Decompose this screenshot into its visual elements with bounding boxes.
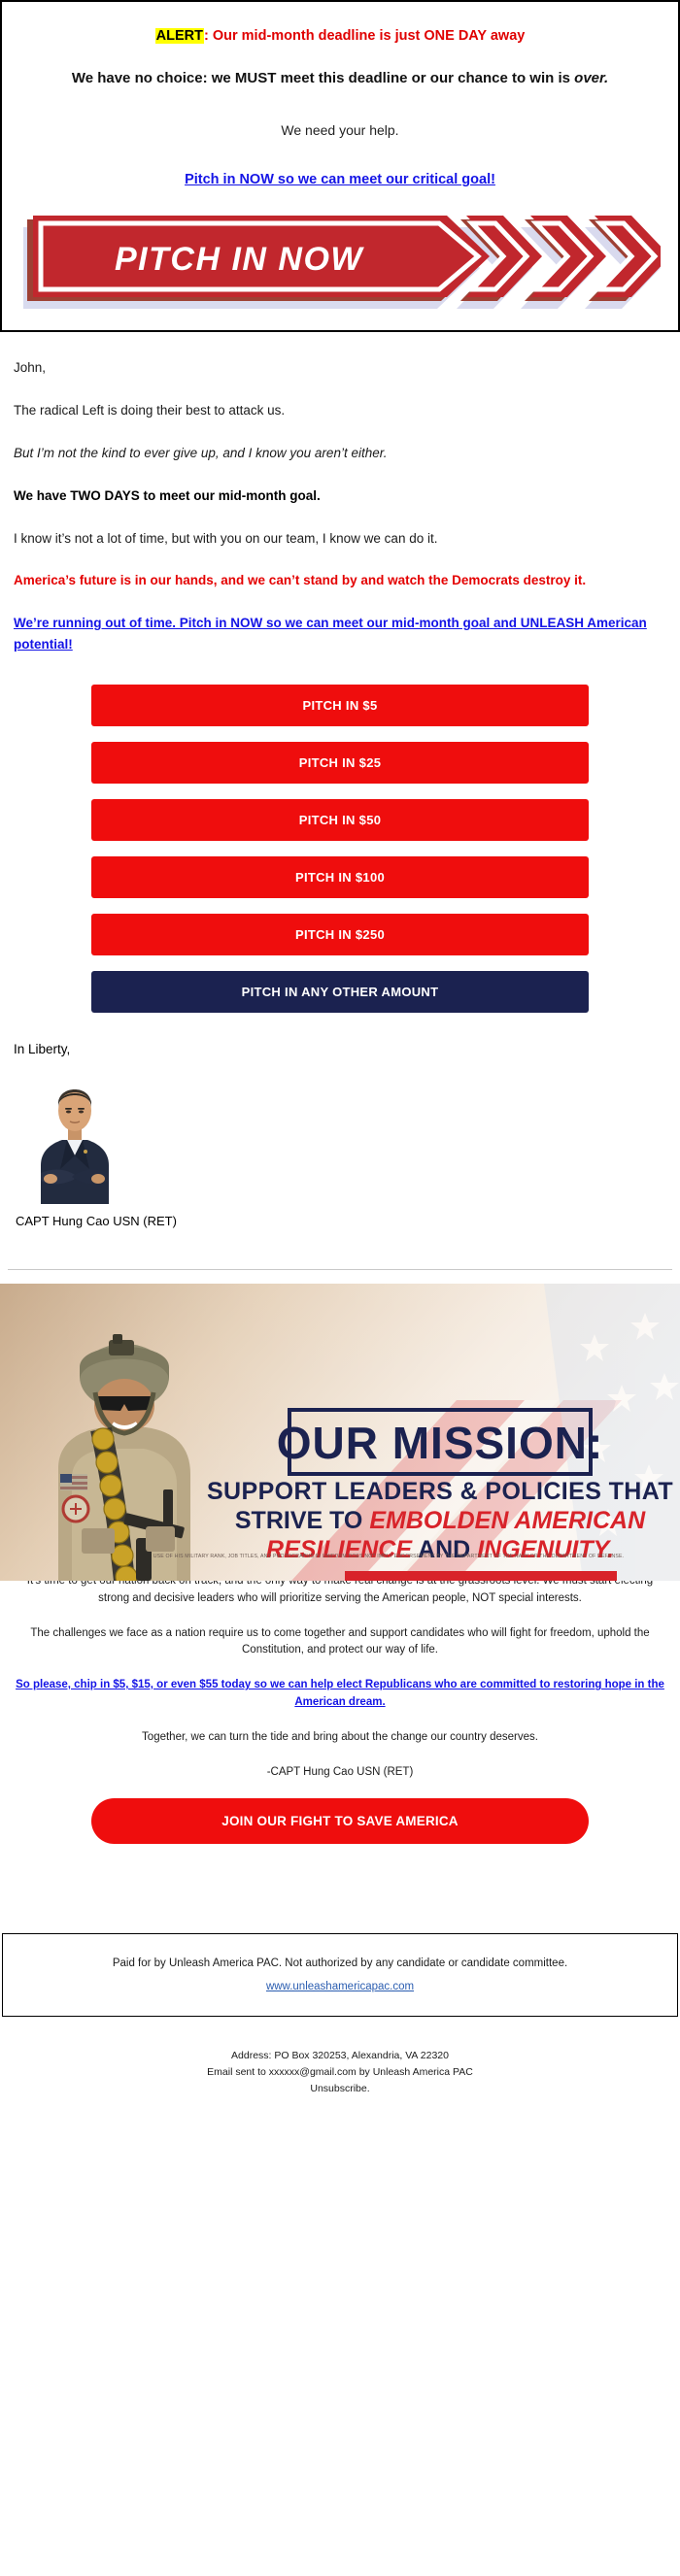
- donate-button-25[interactable]: PITCH IN $25: [91, 742, 589, 784]
- military-disclaimer-wrap: USE OF HIS MILITARY RANK, JOB TITLES, AN…: [0, 1554, 680, 1559]
- join-our-fight-button[interactable]: JOIN OUR FIGHT TO SAVE AMERICA: [91, 1798, 589, 1844]
- mission-line-2: STRIVE TO EMBOLDEN AMERICAN: [235, 1507, 646, 1534]
- svg-text:OUR MISSION:: OUR MISSION:: [277, 1418, 604, 1468]
- footer-address-block: Address: PO Box 320253, Alexandria, VA 2…: [0, 2017, 680, 2115]
- donate-button-other[interactable]: PITCH IN ANY OTHER AMOUNT: [91, 971, 589, 1013]
- letter-paragraph-6-wrap: We’re running out of time. Pitch in NOW …: [14, 613, 666, 655]
- donate-button-5[interactable]: PITCH IN $5: [91, 685, 589, 726]
- footer-unsubscribe[interactable]: Unsubscribe.: [0, 2081, 680, 2097]
- closing-copy: It's time to get our nation back on trac…: [0, 1559, 680, 1845]
- donate-button-100[interactable]: PITCH IN $100: [91, 856, 589, 898]
- hero-subheadline: We have no choice: we MUST meet this dea…: [52, 67, 628, 89]
- letter-body: John, The radical Left is doing their be…: [0, 332, 680, 655]
- closing-signature: -CAPT Hung Cao USN (RET): [16, 1764, 664, 1782]
- mission-line-1: SUPPORT LEADERS & POLICIES THAT: [207, 1478, 673, 1505]
- signature-greeting: In Liberty,: [14, 1042, 666, 1056]
- closing-paragraph-4: Together, we can turn the tide and bring…: [16, 1729, 664, 1747]
- svg-text:SAVE AMERICA: SAVE AMERICA: [352, 1578, 561, 1581]
- footer-address: Address: PO Box 320253, Alexandria, VA 2…: [0, 2048, 680, 2064]
- section-divider: [8, 1269, 672, 1270]
- signature-name: CAPT Hung Cao USN (RET): [16, 1214, 666, 1228]
- closing-paragraph-2: The challenges we face as a nation requi…: [16, 1625, 664, 1660]
- alert-badge: ALERT: [155, 28, 204, 44]
- closing-donate-link[interactable]: So please, chip in $5, $15, or even $55 …: [16, 1679, 664, 1708]
- svg-text:❮❮: ❮❮: [561, 1579, 604, 1581]
- banner-label: PITCH IN NOW: [115, 241, 364, 278]
- pac-website-link-wrap: www.unleashamericapac.com: [13, 1977, 667, 1994]
- letter-paragraph-2: But I’m not the kind to ever give up, an…: [14, 443, 666, 464]
- pitch-in-now-banner[interactable]: PITCH IN NOW: [19, 214, 661, 330]
- alert-headline-text: : Our mid-month deadline is just ONE DAY…: [204, 28, 525, 44]
- hero-need-help: We need your help.: [19, 122, 661, 138]
- letter-inline-donate-link[interactable]: We’re running out of time. Pitch in NOW …: [14, 616, 647, 652]
- our-mission-image[interactable]: OUR MISSION: SUPPORT LEADERS & POLICIES …: [0, 1284, 680, 1581]
- alert-headline: ALERT: Our mid-month deadline is just ON…: [19, 27, 661, 46]
- portrait-photo: [21, 1072, 128, 1204]
- letter-salutation: John,: [14, 357, 666, 379]
- letter-paragraph-3: We have TWO DAYS to meet our mid-month g…: [14, 485, 666, 507]
- footer-email-line: Email sent to xxxxxx@gmail.com by Unleas…: [0, 2064, 680, 2081]
- hero-subheadline-text: We have no choice: we MUST meet this dea…: [72, 70, 574, 86]
- letter-paragraph-4: I know it’s not a lot of time, but with …: [14, 528, 666, 550]
- paid-for-text: Paid for by Unleash America PAC. Not aut…: [13, 1956, 667, 1972]
- letter-paragraph-1: The radical Left is doing their best to …: [14, 400, 666, 421]
- save-america-button: SAVE AMERICA ❮❮: [345, 1571, 617, 1581]
- alert-hero: ALERT: Our mid-month deadline is just ON…: [0, 0, 680, 332]
- our-mission-graphic[interactable]: OUR MISSION: SUPPORT LEADERS & POLICIES …: [0, 1284, 680, 1581]
- email-page: ALERT: Our mid-month deadline is just ON…: [0, 0, 680, 2115]
- mission-heading-box: OUR MISSION:: [277, 1410, 604, 1474]
- donation-button-list: PITCH IN $5 PITCH IN $25 PITCH IN $50 PI…: [0, 677, 680, 1013]
- letter-paragraph-5: America’s future is in our hands, and we…: [14, 570, 666, 591]
- pac-website-link[interactable]: www.unleashamericapac.com: [266, 1981, 414, 1992]
- hero-subheadline-emphasis: over.: [574, 70, 608, 86]
- hero-cta-link[interactable]: Pitch in NOW so we can meet our critical…: [185, 172, 495, 187]
- paid-for-box: Paid for by Unleash America PAC. Not aut…: [2, 1933, 678, 2016]
- military-disclaimer: USE OF HIS MILITARY RANK, JOB TITLES, AN…: [120, 1554, 657, 1559]
- closing-paragraph-3-wrap: So please, chip in $5, $15, or even $55 …: [16, 1677, 664, 1712]
- donate-button-250[interactable]: PITCH IN $250: [91, 914, 589, 955]
- donate-button-50[interactable]: PITCH IN $50: [91, 799, 589, 841]
- hero-cta-link-wrap: Pitch in NOW so we can meet our critical…: [19, 171, 661, 188]
- signature-block: In Liberty,: [0, 1028, 680, 1228]
- pitch-in-now-banner-graphic[interactable]: PITCH IN NOW: [19, 214, 661, 311]
